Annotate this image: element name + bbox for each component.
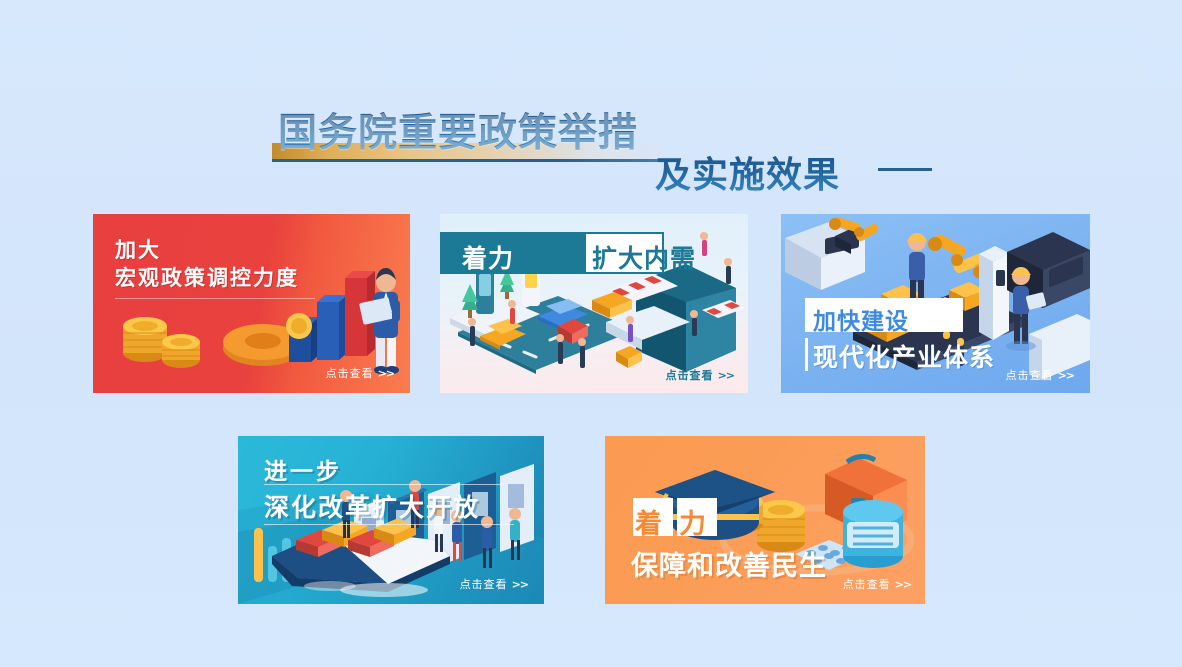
card-4-more-label: 点击查看 <box>460 578 508 591</box>
card-1-title-line-1: 加大 <box>115 234 161 264</box>
card-3-more-label: 点击查看 <box>1006 369 1054 382</box>
card-3-title-accent-bar <box>805 338 808 371</box>
page-header: 国务院重要政策举措 及实施效果 <box>0 46 1182 156</box>
card-2-title-line-2: 扩大内需 <box>592 239 696 275</box>
card-5-title-line-2: 保障和改善民生 <box>631 544 827 583</box>
card-2-more-chevron-icon: >> <box>718 369 734 382</box>
title-trailing-dash <box>878 168 932 171</box>
card-5-title-char-2: 力 <box>679 502 706 541</box>
card-5-more-chevron-icon: >> <box>895 578 911 591</box>
card-2-more-link[interactable]: 点击查看>> <box>666 367 734 383</box>
policy-card-expand-demand[interactable]: 着力 扩大内需 点击查看>> <box>440 214 748 393</box>
card-4-more-link[interactable]: 点击查看>> <box>460 576 528 592</box>
policy-card-reform-opening[interactable]: 进一步 深化改革扩大开放 点击查看>> <box>238 436 544 604</box>
card-3-more-link[interactable]: 点击查看>> <box>1006 367 1074 383</box>
card-1-title-line-2: 宏观政策调控力度 <box>115 262 299 292</box>
card-3-title-line-2: 现代化产业体系 <box>813 338 995 374</box>
card-5-more-label: 点击查看 <box>843 578 891 591</box>
card-2-more-label: 点击查看 <box>666 369 714 382</box>
policy-card-modern-industry[interactable]: 加快建设 现代化产业体系 点击查看>> <box>781 214 1090 393</box>
card-1-more-chevron-icon: >> <box>378 367 394 380</box>
page-title-line-2: 及实施效果 <box>655 146 840 198</box>
page-title-line-1: 国务院重要政策举措 <box>278 102 638 158</box>
page-root: 国务院重要政策举措 及实施效果 <box>0 0 1182 667</box>
card-4-more-chevron-icon: >> <box>512 578 528 591</box>
card-4-title-line-2: 深化改革扩大开放 <box>264 488 480 524</box>
card-4-title-rule-1 <box>264 484 504 485</box>
card-3-title-line-1: 加快建设 <box>813 302 909 336</box>
card-5-title-char-1: 着 <box>635 502 662 541</box>
title-underline-rule <box>272 159 672 162</box>
card-1-more-label: 点击查看 <box>326 367 374 380</box>
policy-card-macro-control[interactable]: 加大 宏观政策调控力度 点击查看>> <box>93 214 410 393</box>
policy-card-livelihood[interactable]: 着 力 保障和改善民生 点击查看>> <box>605 436 925 604</box>
card-2-title-line-1: 着力 <box>462 239 514 275</box>
card-1-more-link[interactable]: 点击查看>> <box>326 365 394 381</box>
card-5-more-link[interactable]: 点击查看>> <box>843 576 911 592</box>
card-3-more-chevron-icon: >> <box>1058 369 1074 382</box>
card-4-title-rule-2 <box>264 524 514 525</box>
card-4-title-line-1: 进一步 <box>264 452 342 486</box>
card-1-title-rule <box>115 298 315 299</box>
